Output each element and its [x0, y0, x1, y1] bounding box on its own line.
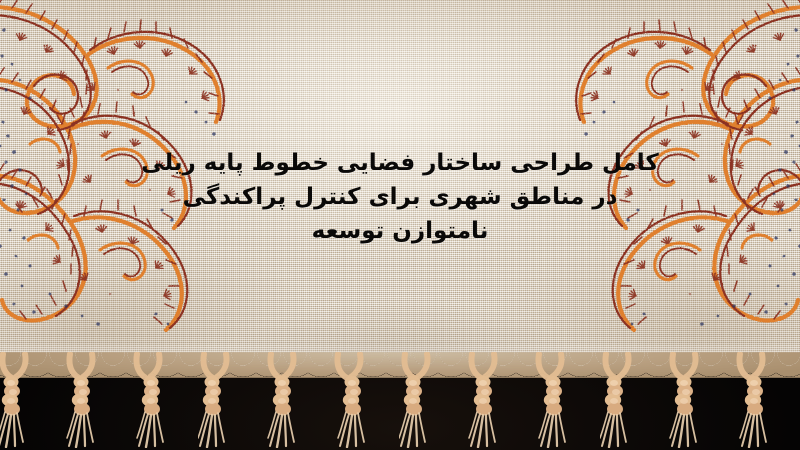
tassel [131, 352, 165, 448]
tassel [198, 352, 232, 448]
slide-title: کامل طراحی ساختار فضایی خطوط پایه ریلی د… [0, 146, 800, 248]
slide-canvas: کامل طراحی ساختار فضایی خطوط پایه ریلی د… [0, 0, 800, 450]
title-line-2: در مناطق شهری برای کنترل پراکندگی [0, 180, 800, 214]
tassel [466, 352, 500, 448]
tassel [734, 352, 768, 448]
tassel [0, 352, 31, 448]
title-line-1: کامل طراحی ساختار فضایی خطوط پایه ریلی [0, 146, 800, 180]
tassel [667, 352, 701, 448]
tassel [399, 352, 433, 448]
tassel [533, 352, 567, 448]
tassel [600, 352, 634, 448]
title-line-3: نامتوازن توسعه [0, 214, 800, 248]
tassel [64, 352, 98, 448]
tassel [265, 352, 299, 448]
tassel [332, 352, 366, 448]
knotted-tassel-fringe [0, 352, 800, 450]
